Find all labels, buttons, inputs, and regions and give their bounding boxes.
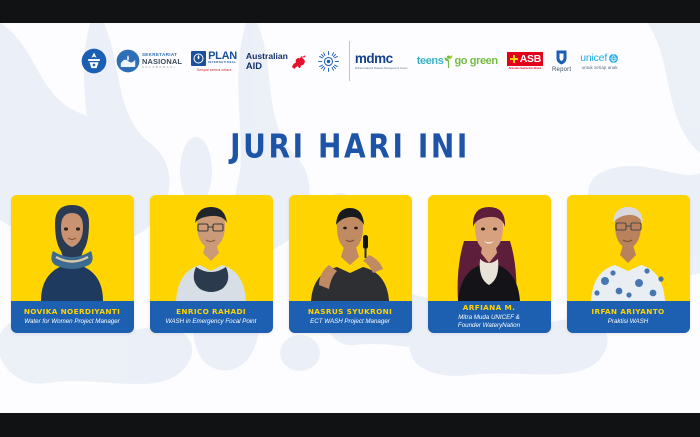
sunburst-icon [317,50,340,73]
judge-name-band: ENRICO RAHADI WASH in Emergency Focal Po… [150,301,273,333]
plan-sub: INTERNATIONAL [208,62,237,65]
judge-name: IRFAN ARIYANTO [591,308,664,316]
judge-role: ECT WASH Project Manager [310,318,390,326]
judge-role: Water for Women Project Manager [24,318,119,326]
seknas-tagline: KOLABORASI [142,66,182,69]
judge-card[interactable]: ARFIANA M. Mitra Muda UNICEF & Founder W… [428,195,551,333]
u-report-sub: Report [552,67,571,73]
judge-name: ARFIANA M. [463,304,515,312]
slide-stage: SEKRETARIAT NASIONAL KOLABORASI PLAN INT… [0,23,700,413]
green-wordmark: go green [454,55,497,67]
letterbox-top [0,0,700,23]
australian-aid-logo: Australian AID [246,41,308,81]
kemendikbud-logo [81,41,107,81]
unicef-wordmark: unicef [580,52,607,64]
judge-role-line2: Founder WateryNation [458,322,520,330]
unicef-globe-icon [608,53,619,64]
plan-international-logo: PLAN INTERNATIONAL Sampai semua setara [191,41,237,81]
plan-tagline: Sampai semua setara [197,68,232,72]
judges-row: NOVIKA NOERDIYANTI Water for Women Proje… [0,195,700,333]
leaf-sprout-icon [444,55,453,68]
mdmc-logo: mdmc Muhammadiyah Disaster Management Ce… [349,41,408,81]
unicef-tagline: untuk setiap anak [582,65,618,70]
judge-portrait [150,195,273,301]
page-title: JURI HARI INI [0,130,700,163]
plan-mark-icon [191,51,206,66]
u-report-mark-icon [555,49,568,66]
ausaid-line2: AID [246,61,288,71]
mdmc-sub: Muhammadiyah Disaster Management Center [355,67,408,70]
judge-card[interactable]: IRFAN ARIYANTO Praktisi WASH [567,195,690,333]
judge-name: NOVIKA NOERDIYANTI [24,308,120,316]
bmkg-logo [317,41,340,81]
presentation-screen: SEKRETARIAT NASIONAL KOLABORASI PLAN INT… [0,0,700,437]
asb-sub: Arbeiter-Samariter-Bund [509,67,542,70]
teens-wordmark: teens [417,55,444,67]
page-title-text: JURI HARI INI [230,127,470,166]
partner-logo-strip: SEKRETARIAT NASIONAL KOLABORASI PLAN INT… [0,40,700,82]
judge-portrait [289,195,412,301]
unicef-logo: unicef untuk setiap anak [580,41,619,81]
kangaroo-icon [290,54,308,69]
judge-name: NASRUS SYUKRONI [308,308,392,316]
judge-name-band: IRFAN ARIYANTO Praktisi WASH [567,301,690,333]
sekretariat-nasional-logo: SEKRETARIAT NASIONAL KOLABORASI [116,41,182,81]
judge-portrait [567,195,690,301]
u-report-logo: Report [552,41,571,81]
teens-go-green-logo: teens go green [417,41,498,81]
judge-card[interactable]: ENRICO RAHADI WASH in Emergency Focal Po… [150,195,273,333]
asb-wordmark: ASB [520,53,541,65]
judge-portrait [428,195,551,301]
judge-role: Mitra Muda UNICEF & [458,314,519,322]
judge-role: WASH in Emergency Focal Point [166,318,257,326]
judge-name: ENRICO RAHADI [176,308,246,316]
judge-card[interactable]: NOVIKA NOERDIYANTI Water for Women Proje… [11,195,134,333]
judge-name-band: ARFIANA M. Mitra Muda UNICEF & Founder W… [428,301,551,333]
judge-name-band: NOVIKA NOERDIYANTI Water for Women Proje… [11,301,134,333]
asb-logo: ASB Arbeiter-Samariter-Bund [507,41,543,81]
seknas-line2: NASIONAL [142,58,182,65]
letterbox-bottom [0,413,700,437]
judge-card[interactable]: NASRUS SYUKRONI ECT WASH Project Manager [289,195,412,333]
mdmc-wordmark: mdmc [355,52,393,66]
judge-name-band: NASRUS SYUKRONI ECT WASH Project Manager [289,301,412,333]
judge-portrait [11,195,134,301]
seknas-wordmark: SEKRETARIAT NASIONAL KOLABORASI [142,53,182,69]
asb-cross-icon [509,54,519,64]
judge-role: Praktisi WASH [608,318,648,326]
